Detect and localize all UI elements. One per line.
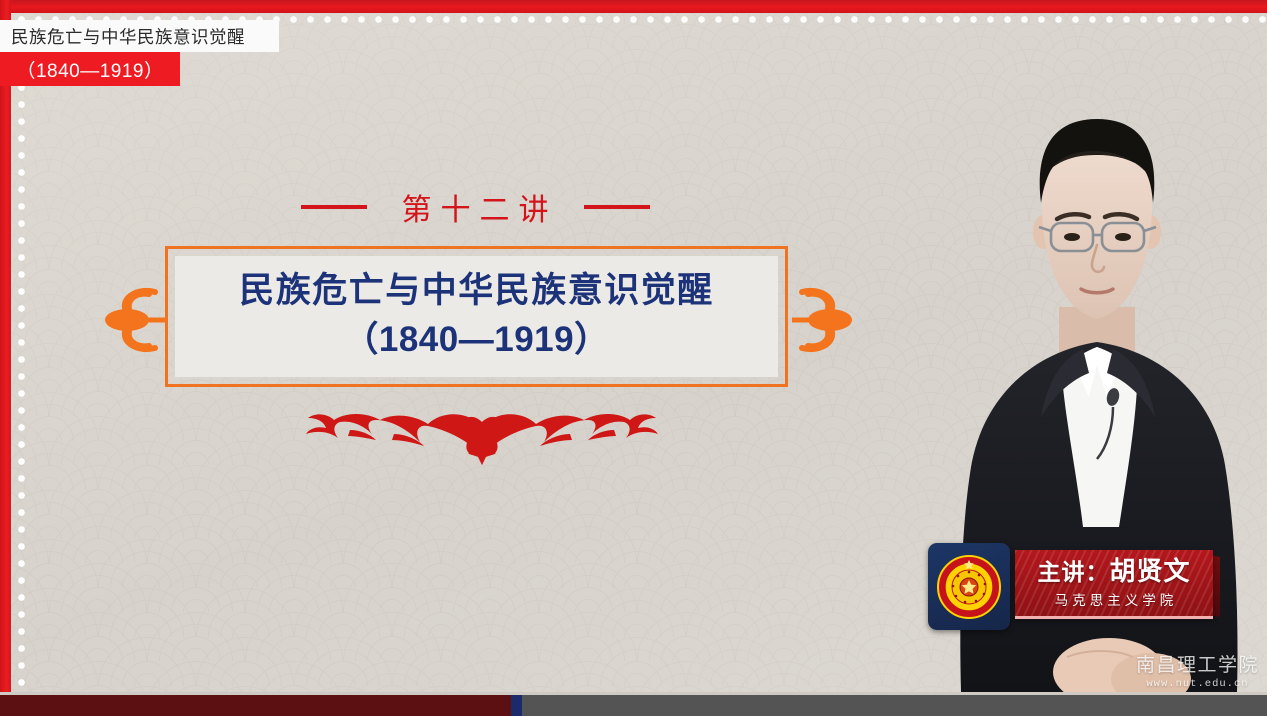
presenter-name-line: 主讲：胡贤文 xyxy=(1037,557,1190,586)
bottom-gray-bar xyxy=(522,695,1267,716)
left-dotted-perforation xyxy=(18,16,25,706)
presenter-nameplate: 主讲：胡贤文 马克思主义学院 xyxy=(1015,550,1213,619)
overlay-caption-title: 民族危亡与中华民族意识觉醒 xyxy=(0,20,279,52)
eyebrow-label: 第十二讲 xyxy=(393,185,558,229)
presenter-prefix: 主讲： xyxy=(1037,559,1109,585)
presenter-name: 胡贤文 xyxy=(1109,556,1190,586)
orange-flourish-right xyxy=(792,282,854,363)
overlay-caption-daterange: （1840—1919） xyxy=(0,52,180,86)
bottom-blue-segment xyxy=(511,695,522,716)
top-red-bar xyxy=(0,0,1267,13)
overlay-caption-daterange-text: （1840—1919） xyxy=(16,56,163,83)
watermark-institution-name: 南昌理工学院 xyxy=(1136,650,1259,677)
lecture-title-inner: 民族危亡与中华民族意识觉醒 （1840—1919） xyxy=(175,256,778,377)
institution-watermark: 南昌理工学院 www.nut.edu.cn xyxy=(1136,650,1259,690)
eyebrow-rule-left xyxy=(301,205,367,209)
lecture-title-main: 民族危亡与中华民族意识觉醒 xyxy=(239,270,714,313)
eyebrow-rule-right xyxy=(584,205,650,209)
lecture-title-daterange: （1840—1919） xyxy=(343,317,609,363)
orange-flourish-left xyxy=(103,282,165,363)
lecture-eyebrow: 第十二讲 xyxy=(0,185,950,229)
university-emblem-icon xyxy=(928,543,1010,630)
presenter-department: 马克思主义学院 xyxy=(1051,589,1178,609)
overlay-caption-title-text: 民族危亡与中华民族意识觉醒 xyxy=(11,24,245,49)
left-red-bar xyxy=(0,0,11,703)
watermark-url: www.nut.edu.cn xyxy=(1136,678,1259,690)
bottom-dark-red-bar xyxy=(0,695,511,716)
lecture-title-card: 民族危亡与中华民族意识觉醒 （1840—1919） xyxy=(165,246,788,387)
slide-stage: 民族危亡与中华民族意识觉醒 （1840—1919） 第十二讲 xyxy=(0,0,1267,716)
red-floral-ornament xyxy=(288,400,676,481)
